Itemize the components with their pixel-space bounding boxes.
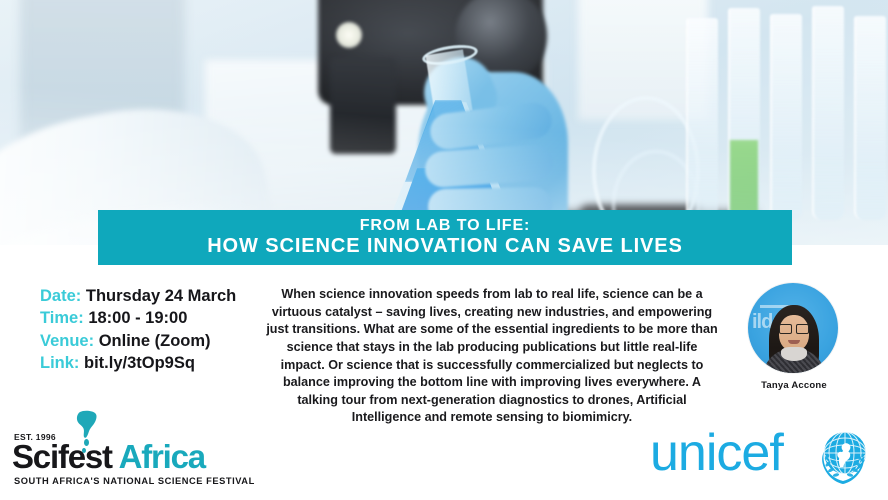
- scifest-wordmark: Scifest Africa: [12, 440, 205, 473]
- scifest-word-sci: Sci: [12, 438, 58, 475]
- event-title-line-2: HOW SCIENCE INNOVATION CAN SAVE LIVES: [207, 235, 683, 257]
- speaker-block: ild Tanya Accone: [748, 283, 840, 391]
- detail-label-venue: Venue:: [40, 332, 94, 350]
- detail-label-link: Link:: [40, 354, 79, 372]
- event-title-line-1: FROM LAB TO LIFE:: [360, 217, 531, 235]
- unicef-logo: unicef: [650, 425, 880, 491]
- hero-lab-photo: [0, 0, 888, 245]
- detail-row-time: Time: 18:00 - 19:00: [40, 307, 265, 329]
- event-details-block: Date: Thursday 24 March Time: 18:00 - 19…: [40, 285, 265, 375]
- speaker-collar: [781, 347, 807, 361]
- detail-value-date: Thursday 24 March: [86, 287, 236, 305]
- event-description: When science innovation speeds from lab …: [266, 286, 718, 427]
- unicef-wordmark: unicef: [650, 427, 783, 479]
- detail-value-time: 18:00 - 19:00: [88, 309, 187, 327]
- scifest-word-fest: fest: [58, 438, 112, 475]
- detail-row-venue: Venue: Online (Zoom): [40, 330, 265, 352]
- detail-row-link: Link: bit.ly/3tOp9Sq: [40, 352, 265, 374]
- scifest-tagline: SOUTH AFRICA'S NATIONAL SCIENCE FESTIVAL: [14, 476, 255, 486]
- photo-haze-overlay: [0, 0, 888, 245]
- speaker-avatar: ild: [748, 283, 838, 373]
- detail-label-date: Date:: [40, 287, 81, 305]
- speaker-name: Tanya Accone: [748, 380, 840, 391]
- unicef-emblem-icon: [812, 427, 874, 487]
- africa-map-icon: [74, 410, 100, 440]
- detail-value-venue: Online (Zoom): [99, 332, 211, 350]
- glasses-icon: [779, 324, 809, 332]
- title-banner: FROM LAB TO LIFE: HOW SCIENCE INNOVATION…: [98, 210, 792, 265]
- poster-root: FROM LAB TO LIFE: HOW SCIENCE INNOVATION…: [0, 0, 888, 500]
- detail-label-time: Time:: [40, 309, 84, 327]
- detail-value-link[interactable]: bit.ly/3tOp9Sq: [84, 354, 195, 372]
- detail-row-date: Date: Thursday 24 March: [40, 285, 265, 307]
- scifest-word-africa: Africa: [119, 438, 205, 475]
